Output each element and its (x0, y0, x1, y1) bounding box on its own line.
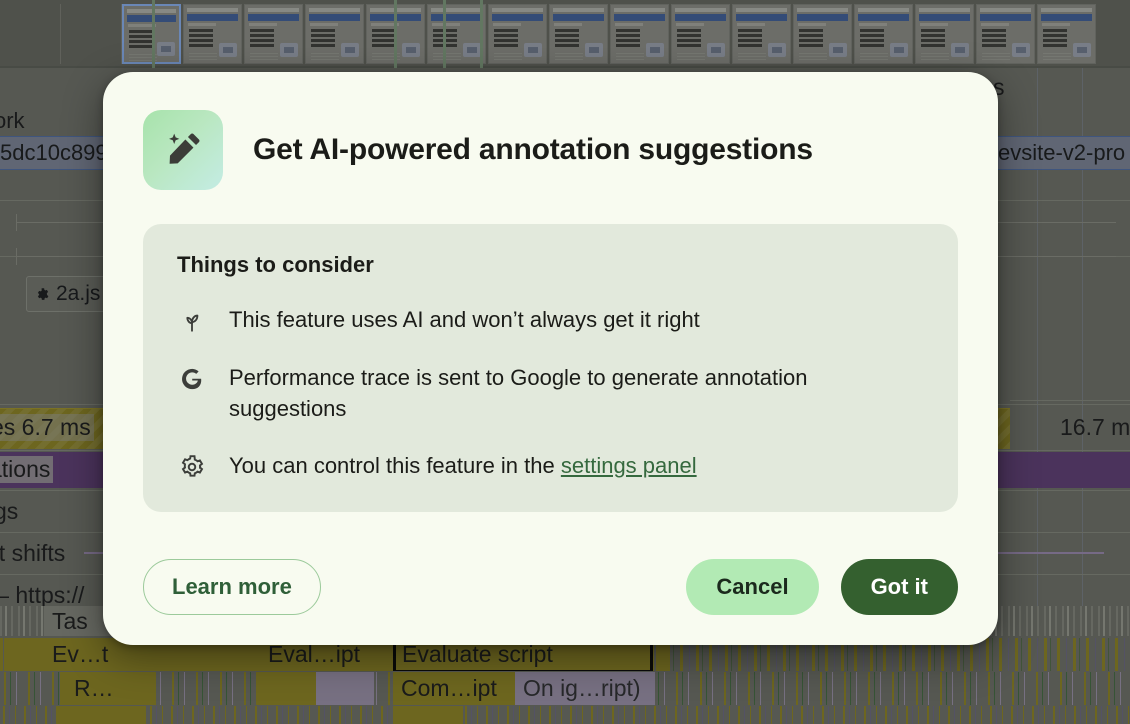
url-row-label: — https:// (0, 582, 84, 609)
flame-row[interactable]: R… Com…ipt On ig…ript) (0, 672, 1130, 705)
flame-noise (0, 706, 1130, 724)
network-request-row[interactable]: evsite-v2-pro (988, 136, 1130, 170)
timing-marker-cap (16, 214, 17, 231)
filmstrip-thumbnail[interactable] (183, 4, 242, 64)
row-separator (1010, 400, 1130, 401)
dialog-header: Get AI-powered annotation suggestions (143, 110, 958, 190)
consider-item-text-prefix: You can control this feature in the (229, 453, 561, 478)
consider-item-text: You can control this feature in the sett… (229, 450, 697, 481)
flame-bar[interactable]: On ig…ript) (515, 672, 655, 705)
flame-bar[interactable] (393, 706, 463, 724)
filmstrip-thumbnail[interactable] (305, 4, 364, 64)
flame-bar[interactable] (56, 706, 146, 724)
consider-item: This feature uses AI and won’t always ge… (177, 304, 924, 336)
consider-item-text: This feature uses AI and won’t always ge… (229, 304, 700, 335)
right-duration-label: 16.7 m (1060, 414, 1130, 441)
network-section-label: ork (0, 108, 25, 134)
filmstrip-thumbnail[interactable] (610, 4, 669, 64)
ai-annotations-consent-dialog: Get AI-powered annotation suggestions Th… (103, 72, 998, 645)
consider-item: You can control this feature in the sett… (177, 450, 924, 482)
filmstrip-thumbnail[interactable] (854, 4, 913, 64)
cancel-button[interactable]: Cancel (686, 559, 818, 615)
layout-shifts-row-label: ut shifts (0, 540, 65, 567)
filmstrip-track[interactable] (0, 0, 1130, 68)
renderings-row-label: gs (0, 498, 18, 525)
sprout-icon (177, 306, 207, 336)
filmstrip-thumbnail[interactable] (427, 4, 486, 64)
filmstrip-marker (394, 0, 397, 68)
filmstrip-thumbnail[interactable] (244, 4, 303, 64)
consider-item-text: Performance trace is sent to Google to g… (229, 362, 869, 424)
gear-icon (177, 452, 207, 482)
filmstrip-thumbnail[interactable] (976, 4, 1035, 64)
dialog-actions: Cancel Got it (686, 559, 958, 615)
got-it-button[interactable]: Got it (841, 559, 958, 615)
flame-bar[interactable]: R… (60, 672, 156, 705)
magic-pencil-icon (143, 110, 223, 190)
filmstrip-thumbnail[interactable] (1037, 4, 1096, 64)
animations-label: ations (0, 456, 53, 483)
flame-row[interactable] (0, 706, 1130, 724)
filmstrip-thumbnail[interactable] (671, 4, 730, 64)
filmstrip-spacer (61, 4, 122, 64)
timing-marker-cap (16, 248, 17, 265)
filmstrip-thumbnail[interactable] (915, 4, 974, 64)
filmstrip-thumbnail[interactable] (488, 4, 547, 64)
gear-icon (35, 287, 50, 302)
screen-root: ork s 5dc10c899 evsite-v2-pro 2a.js es 6… (0, 0, 1130, 724)
flame-bar[interactable]: Com…ipt (393, 672, 515, 705)
things-to-consider-list: This feature uses AI and won’t always ge… (177, 304, 924, 482)
filmstrip-spacer (0, 4, 61, 64)
things-to-consider-card: Things to consider This feature uses AI … (143, 224, 958, 512)
filmstrip-marker (443, 0, 446, 68)
settings-panel-link[interactable]: settings panel (561, 453, 697, 478)
dialog-footer: Learn more Cancel Got it (143, 533, 958, 645)
script-chip[interactable]: 2a.js (26, 276, 109, 312)
things-to-consider-heading: Things to consider (177, 252, 924, 278)
script-chip-label: 2a.js (56, 282, 100, 306)
learn-more-button[interactable]: Learn more (143, 559, 321, 615)
dialog-title: Get AI-powered annotation suggestions (253, 133, 813, 167)
google-g-icon (177, 364, 207, 394)
filmstrip-thumbnail[interactable] (793, 4, 852, 64)
flame-bar[interactable] (316, 672, 374, 705)
timing-band-label: es 6.7 ms (0, 414, 94, 441)
filmstrip-marker (152, 0, 155, 68)
consider-item: Performance trace is sent to Google to g… (177, 362, 924, 424)
flame-bar[interactable] (256, 672, 316, 705)
filmstrip-marker (480, 0, 483, 68)
filmstrip-thumbnail[interactable] (732, 4, 791, 64)
filmstrip-thumbnail[interactable] (549, 4, 608, 64)
